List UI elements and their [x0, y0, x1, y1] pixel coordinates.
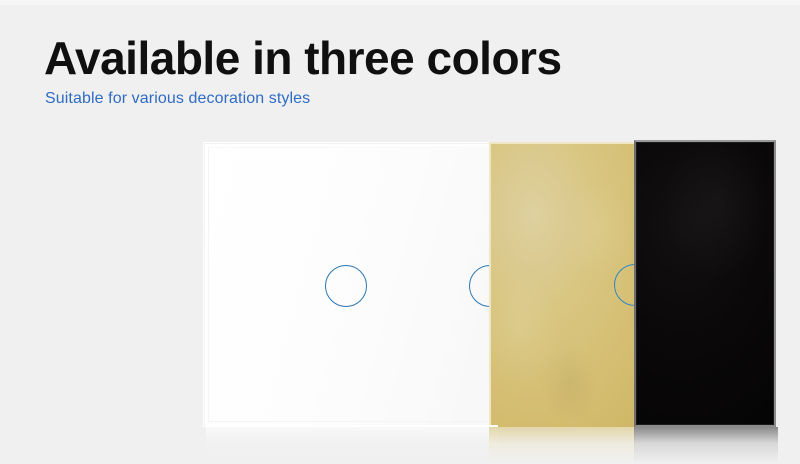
reflection-black-panel [634, 427, 778, 463]
touch-ring-icon-white[interactable] [325, 265, 367, 307]
product-panel-group [0, 0, 800, 464]
product-banner: Available in three colors Suitable for v… [0, 0, 800, 464]
product-panel-black[interactable] [634, 140, 776, 427]
reflection-gold-panel [489, 427, 635, 461]
reflection-white-panel [206, 427, 498, 457]
